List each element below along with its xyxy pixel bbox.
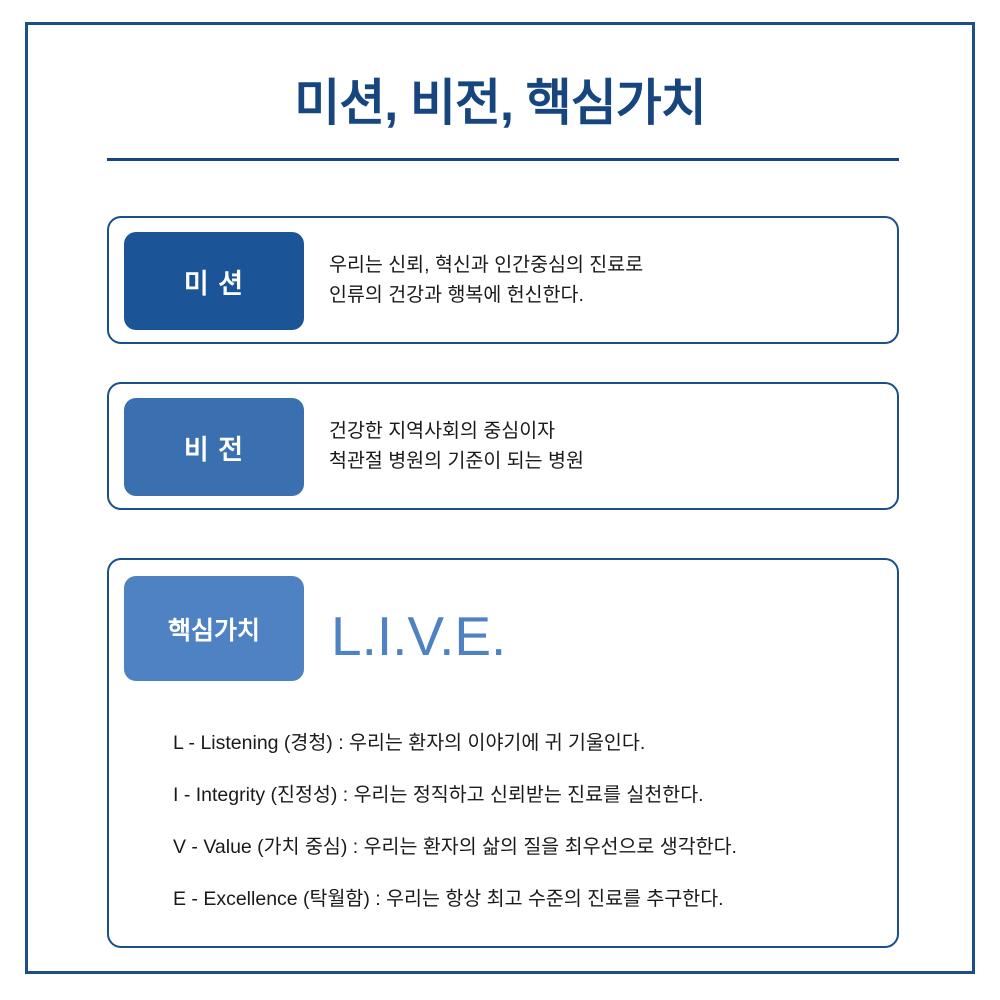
mission-text: 우리는 신뢰, 혁신과 인간중심의 진료로 인류의 건강과 행복에 헌신한다.: [329, 218, 643, 342]
list-item: I - Integrity (진정성) : 우리는 정직하고 신뢰받는 진료를 …: [173, 780, 873, 832]
vision-badge-label: 비 전: [184, 428, 244, 467]
core-values-card: 핵심가치 L.I.V.E. L - Listening (경청) : 우리는 환…: [107, 558, 899, 948]
core-values-badge-label: 핵심가치: [168, 611, 260, 647]
list-item: L - Listening (경청) : 우리는 환자의 이야기에 귀 기울인다…: [173, 728, 873, 780]
mission-badge-label: 미 션: [184, 262, 244, 301]
mission-badge: 미 션: [124, 232, 304, 330]
mission-card: 미 션 우리는 신뢰, 혁신과 인간중심의 진료로 인류의 건강과 행복에 헌신…: [107, 216, 899, 344]
mission-text-line: 인류의 건강과 행복에 헌신한다.: [329, 280, 643, 310]
vision-card: 비 전 건강한 지역사회의 중심이자 척관절 병원의 기준이 되는 병원: [107, 382, 899, 510]
vision-badge: 비 전: [124, 398, 304, 496]
vision-text-line: 척관절 병원의 기준이 되는 병원: [329, 446, 584, 476]
live-acronym: L.I.V.E.: [331, 604, 506, 668]
list-item: E - Excellence (탁월함) : 우리는 항상 최고 수준의 진료를…: [173, 884, 873, 936]
vision-text-line: 건강한 지역사회의 중심이자: [329, 416, 584, 446]
vision-text: 건강한 지역사회의 중심이자 척관절 병원의 기준이 되는 병원: [329, 384, 584, 508]
live-list: L - Listening (경청) : 우리는 환자의 이야기에 귀 기울인다…: [173, 728, 873, 936]
mission-text-line: 우리는 신뢰, 혁신과 인간중심의 진료로: [329, 250, 643, 280]
list-item: V - Value (가치 중심) : 우리는 환자의 삶의 질을 최우선으로 …: [173, 832, 873, 884]
page-title: 미션, 비전, 핵심가치: [28, 63, 972, 135]
core-values-badge: 핵심가치: [124, 576, 304, 681]
title-divider: [107, 158, 899, 161]
slide-frame: 미션, 비전, 핵심가치 미 션 우리는 신뢰, 혁신과 인간중심의 진료로 인…: [25, 22, 975, 974]
